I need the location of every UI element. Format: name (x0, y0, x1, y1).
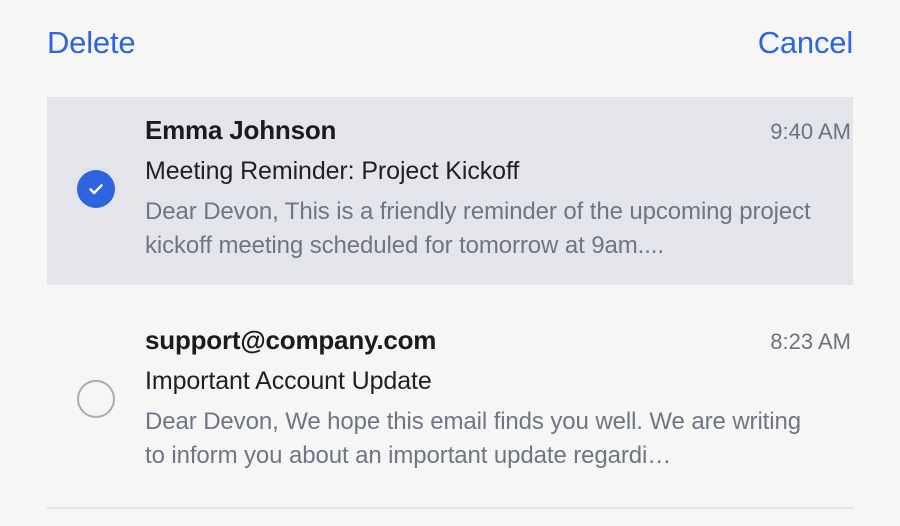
email-content: support@company.com 8:23 AM Important Ac… (145, 325, 853, 473)
delete-button[interactable]: Delete (47, 27, 135, 58)
email-header-row: Emma Johnson 9:40 AM (145, 115, 851, 146)
email-timestamp: 9:40 AM (770, 119, 851, 145)
check-circle-filled-icon[interactable] (77, 170, 115, 208)
list-divider (47, 507, 853, 509)
email-timestamp: 8:23 AM (770, 329, 851, 355)
email-selection-screen: Delete Cancel Emma Johnson 9:40 AM Meeti… (0, 0, 900, 526)
email-header-row: support@company.com 8:23 AM (145, 325, 851, 356)
email-sender: Emma Johnson (145, 115, 336, 146)
action-bar: Delete Cancel (0, 0, 900, 85)
checkbox-column (47, 325, 145, 473)
email-content: Emma Johnson 9:40 AM Meeting Reminder: P… (145, 115, 853, 263)
email-subject: Meeting Reminder: Project Kickoff (145, 156, 851, 186)
email-subject: Important Account Update (145, 366, 851, 396)
email-list-item-selected[interactable]: Emma Johnson 9:40 AM Meeting Reminder: P… (47, 97, 853, 285)
cancel-button[interactable]: Cancel (758, 27, 853, 58)
email-list-item[interactable]: support@company.com 8:23 AM Important Ac… (47, 307, 853, 495)
email-preview: Dear Devon, This is a friendly reminder … (145, 195, 817, 263)
email-preview: Dear Devon, We hope this email finds you… (145, 405, 817, 473)
circle-outline-icon[interactable] (77, 380, 115, 418)
email-sender: support@company.com (145, 325, 436, 356)
email-list: Emma Johnson 9:40 AM Meeting Reminder: P… (0, 97, 900, 495)
checkbox-column (47, 115, 145, 263)
